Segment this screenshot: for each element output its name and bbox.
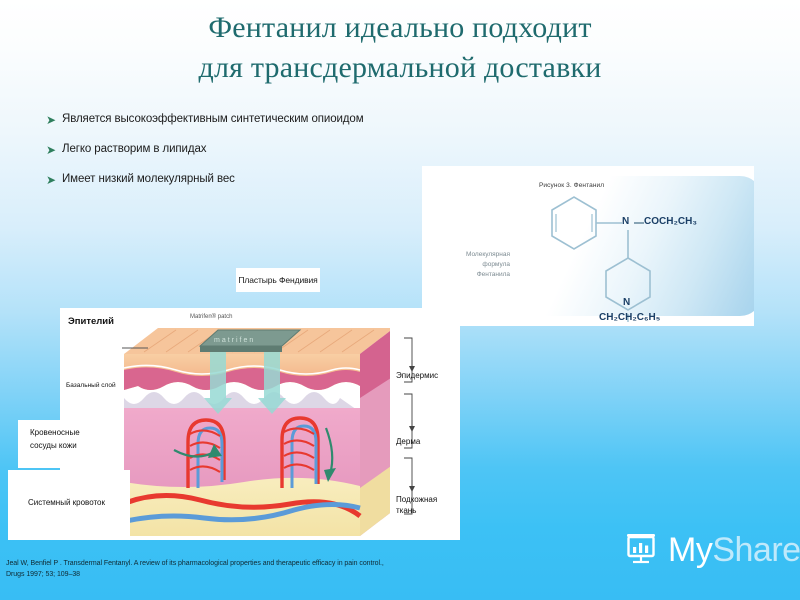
myshared-logo[interactable]: MyShared <box>622 528 800 571</box>
label-subcutaneous-line-1: Подкожная <box>396 494 437 505</box>
label-subcutaneous: Подкожная ткань <box>396 494 437 516</box>
label-dermis: Дерма <box>396 436 420 447</box>
list-item-label: Имеет низкий молекулярный вес <box>62 172 235 186</box>
arrow-bullet-icon: ➤ <box>46 142 62 157</box>
arrow-bullet-icon: ➤ <box>46 172 62 187</box>
list-item: ➤ Является высокоэффективным синтетическ… <box>46 112 466 127</box>
patch-label-box: Пластырь Фендивия <box>236 268 320 292</box>
logo-text-my: My <box>668 531 712 569</box>
logo-text-shared: Shared <box>712 531 800 569</box>
fentanyl-structure-svg <box>422 166 754 326</box>
list-item-label: Легко растворим в липидах <box>62 142 206 156</box>
label-subcutaneous-line-2: ткань <box>396 505 437 516</box>
atom-label-nitrogen-top: N <box>622 216 629 227</box>
callout-systemic-text: Системный кровоток <box>28 496 130 509</box>
title-line-1: Фентанил идеально подходит <box>0 8 800 48</box>
group-label-phenethyl: CH₂CH₂C₆H₅ <box>599 312 660 323</box>
dermis-layer <box>124 408 360 489</box>
callout-systemic-circulation: Системный кровоток <box>8 470 130 540</box>
citation-line-1: Jeal W, Benfiel P . Transdermal Fentanyl… <box>6 558 546 569</box>
molecular-formula-panel: Рисунок 3. Фентанил Молекулярная формула… <box>422 166 754 326</box>
atom-label-nitrogen-bottom: N <box>623 297 630 308</box>
label-epithelium: Эпителий <box>68 316 114 327</box>
callout-vessels-line-2: сосуды кожи <box>30 439 122 452</box>
skin-depth-labels: Эпидермис Дерма Подкожная ткань <box>390 308 460 540</box>
page-title: Фентанил идеально подходит для трансдерм… <box>0 8 800 88</box>
svg-text:matrifen: matrifen <box>214 337 255 344</box>
patch-label-text: Пластырь Фендивия <box>238 275 317 285</box>
citation: Jeal W, Benfiel P . Transdermal Fentanyl… <box>6 558 546 580</box>
callout-vessels-line-1: Кровеносные <box>30 426 122 439</box>
title-line-2: для трансдермальной доставки <box>0 48 800 88</box>
arrow-bullet-icon: ➤ <box>46 112 62 127</box>
skin-anatomy-illustration: matrifen <box>114 312 404 536</box>
myshared-logo-text: MyShared <box>668 533 800 567</box>
benzene-ring-icon <box>552 197 596 249</box>
list-item: ➤ Имеет низкий молекулярный вес <box>46 172 466 187</box>
bullet-list: ➤ Является высокоэффективным синтетическ… <box>46 112 466 202</box>
group-label-acyl: COCH₂CH₃ <box>644 216 697 227</box>
presentation-chart-icon <box>622 528 660 571</box>
list-item-label: Является высокоэффективным синтетическим… <box>62 112 364 126</box>
label-basal-layer: Базальный слой <box>66 382 116 389</box>
citation-line-2: Drugs 1997; 53; 109–38 <box>6 569 546 580</box>
list-item: ➤ Легко растворим в липидах <box>46 142 466 157</box>
label-epidermis: Эпидермис <box>396 370 438 381</box>
callout-skin-vessels: Кровеносные сосуды кожи <box>18 420 122 468</box>
presentation-slide: Фентанил идеально подходит для трансдерм… <box>0 0 800 600</box>
